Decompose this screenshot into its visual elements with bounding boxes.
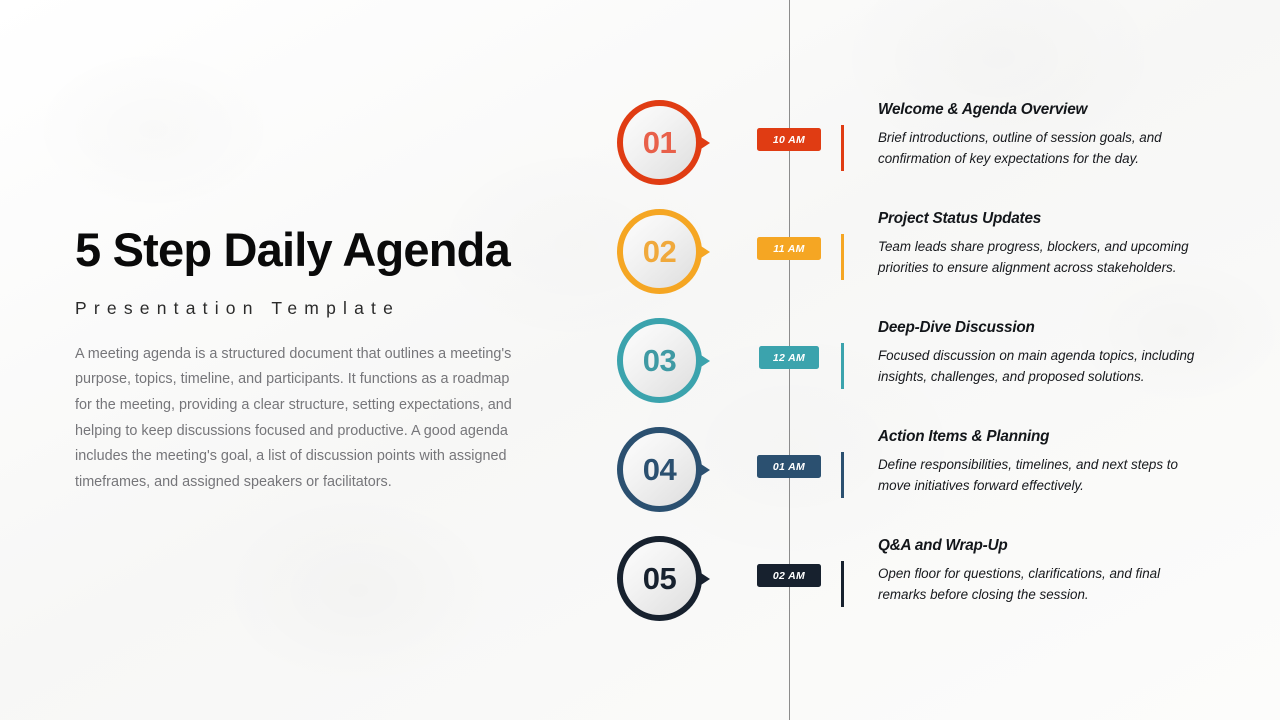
time-badge[interactable]: 12 AM bbox=[759, 346, 819, 369]
accent-bar bbox=[841, 343, 844, 389]
accent-bar bbox=[841, 125, 844, 171]
step-content-block: Project Status UpdatesTeam leads share p… bbox=[841, 210, 1241, 278]
step-content-block: Deep-Dive DiscussionFocused discussion o… bbox=[841, 319, 1241, 387]
step-description: Define responsibilities, timelines, and … bbox=[878, 455, 1208, 496]
step-marker[interactable]: 05 bbox=[617, 536, 723, 621]
step-number: 03 bbox=[643, 345, 676, 376]
time-badge[interactable]: 11 AM bbox=[757, 237, 821, 260]
step-marker[interactable]: 01 bbox=[617, 100, 723, 185]
step-description: Open floor for questions, clarifications… bbox=[878, 564, 1208, 605]
step-heading: Action Items & Planning bbox=[878, 428, 1241, 446]
subtitle: Presentation Template bbox=[75, 298, 545, 319]
step-circle: 03 bbox=[617, 318, 702, 403]
page-title: 5 Step Daily Agenda bbox=[75, 225, 545, 276]
step-heading: Q&A and Wrap-Up bbox=[878, 537, 1241, 555]
time-badge[interactable]: 02 AM bbox=[757, 564, 821, 587]
step-description: Team leads share progress, blockers, and… bbox=[878, 237, 1208, 278]
step-number: 01 bbox=[643, 127, 676, 158]
presentation-slide: 5 Step Daily Agenda Presentation Templat… bbox=[0, 0, 1280, 720]
description-paragraph: A meeting agenda is a structured documen… bbox=[75, 342, 527, 496]
step-number: 02 bbox=[643, 236, 676, 267]
accent-bar bbox=[841, 561, 844, 607]
step-description: Brief introductions, outline of session … bbox=[878, 128, 1208, 169]
step-circle: 04 bbox=[617, 427, 702, 512]
step-content-block: Welcome & Agenda OverviewBrief introduct… bbox=[841, 101, 1241, 169]
step-heading: Project Status Updates bbox=[878, 210, 1241, 228]
step-content-block: Q&A and Wrap-UpOpen floor for questions,… bbox=[841, 537, 1241, 605]
step-heading: Welcome & Agenda Overview bbox=[878, 101, 1241, 119]
accent-bar bbox=[841, 452, 844, 498]
step-marker[interactable]: 04 bbox=[617, 427, 723, 512]
step-circle: 02 bbox=[617, 209, 702, 294]
step-number: 04 bbox=[643, 454, 676, 485]
step-circle: 01 bbox=[617, 100, 702, 185]
left-text-column: 5 Step Daily Agenda Presentation Templat… bbox=[75, 225, 545, 495]
step-description: Focused discussion on main agenda topics… bbox=[878, 346, 1208, 387]
step-heading: Deep-Dive Discussion bbox=[878, 319, 1241, 337]
accent-bar bbox=[841, 234, 844, 280]
step-content-block: Action Items & PlanningDefine responsibi… bbox=[841, 428, 1241, 496]
time-badge[interactable]: 10 AM bbox=[757, 128, 821, 151]
step-marker[interactable]: 03 bbox=[617, 318, 723, 403]
step-circle: 05 bbox=[617, 536, 702, 621]
step-marker[interactable]: 02 bbox=[617, 209, 723, 294]
time-badge[interactable]: 01 AM bbox=[757, 455, 821, 478]
step-number: 05 bbox=[643, 563, 676, 594]
